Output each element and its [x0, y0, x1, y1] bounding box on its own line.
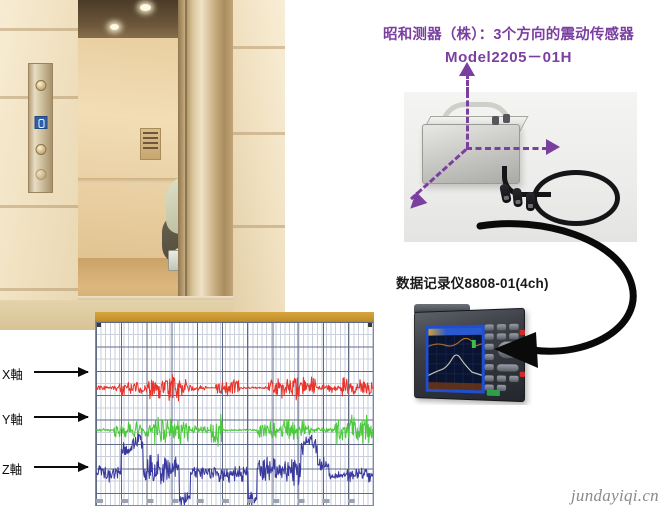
up-axis-arrowhead	[459, 62, 475, 76]
ceiling-light	[140, 4, 151, 11]
door-gap	[178, 0, 185, 300]
cab-ceiling	[78, 0, 185, 40]
logger-side-button[interactable]	[520, 330, 525, 335]
call-button-extra[interactable]	[35, 169, 46, 180]
logger-key[interactable]	[485, 364, 494, 370]
wall-seam	[233, 225, 285, 228]
right-axis-arrowhead	[546, 139, 560, 155]
z-axis-label: Z軸	[2, 459, 22, 478]
logger-body	[414, 308, 525, 402]
cab-notice-placard	[140, 128, 161, 160]
logger-side-button[interactable]	[520, 351, 525, 356]
logger-side-button[interactable]	[520, 372, 525, 377]
down-left-axis-arrowhead	[405, 192, 428, 215]
x-axis-label: X軸	[2, 364, 23, 383]
logger-key[interactable]	[509, 376, 518, 382]
logger-key[interactable]	[485, 354, 494, 360]
logger-key[interactable]	[497, 333, 506, 339]
chart-traces	[96, 322, 373, 505]
y-axis-label-arrow	[34, 416, 88, 418]
logger-key-wide[interactable]	[497, 364, 519, 371]
logger-title: 数据记录仪8808-01(4ch)	[396, 272, 549, 292]
sensor-knob	[503, 114, 510, 123]
cable-connector	[512, 188, 523, 208]
logger-screen	[426, 325, 485, 394]
watermark: jundayiqi.cn	[571, 486, 659, 506]
chart-x-ticks	[96, 499, 373, 505]
logger-status-indicator	[487, 390, 500, 397]
elevator-cab	[78, 0, 185, 330]
logger-dpad[interactable]	[498, 341, 519, 358]
vibration-sensor-photo	[404, 92, 637, 242]
ceiling-light	[110, 24, 119, 30]
sensor-knob	[492, 116, 499, 125]
elevator-inspection-photo	[0, 0, 285, 330]
accessibility-icon	[34, 116, 47, 129]
y-axis-label: Y軸	[2, 409, 23, 428]
cable-connector	[526, 192, 535, 211]
logger-key[interactable]	[485, 344, 494, 350]
sensor-cable-loop	[532, 170, 620, 226]
x-axis-label-arrow	[34, 371, 88, 373]
logger-screen-waveform	[428, 328, 481, 391]
sensor-title: 昭和测器（株）：3个方向的震动传感器 Model2205－01H	[366, 24, 651, 70]
data-logger-photo	[404, 300, 532, 405]
logger-key[interactable]	[497, 324, 506, 330]
wall-seam	[0, 28, 78, 31]
wall-seam	[233, 132, 285, 135]
wall-seam	[0, 288, 78, 291]
elevator-door-panel	[185, 0, 235, 298]
hall-call-panel[interactable]	[28, 63, 53, 193]
logger-key[interactable]	[485, 375, 494, 381]
call-button-up[interactable]	[35, 80, 46, 91]
logger-key[interactable]	[509, 333, 518, 339]
wall-seam	[233, 46, 285, 49]
logger-keypad[interactable]	[485, 324, 520, 397]
sensor-title-line1: 昭和测器（株）：3个方向的震动传感器	[366, 24, 651, 46]
vibration-waveform-chart	[95, 321, 374, 506]
z-axis-label-arrow	[34, 466, 88, 468]
cab-handrail	[78, 178, 185, 183]
chart-top-strip	[95, 312, 374, 321]
wall-seam	[0, 205, 78, 208]
logger-key[interactable]	[509, 324, 518, 330]
call-button-down[interactable]	[35, 144, 46, 155]
sensor-model-label: Model2205－01H	[366, 46, 651, 69]
logger-key[interactable]	[485, 324, 494, 330]
up-axis-arrow-shaft-upper	[466, 73, 469, 93]
right-axis-arrow-shaft	[466, 147, 548, 150]
logger-key[interactable]	[497, 375, 506, 381]
logger-key[interactable]	[485, 334, 494, 340]
up-axis-arrow-shaft	[466, 92, 469, 148]
lobby-wall-right	[233, 0, 285, 330]
